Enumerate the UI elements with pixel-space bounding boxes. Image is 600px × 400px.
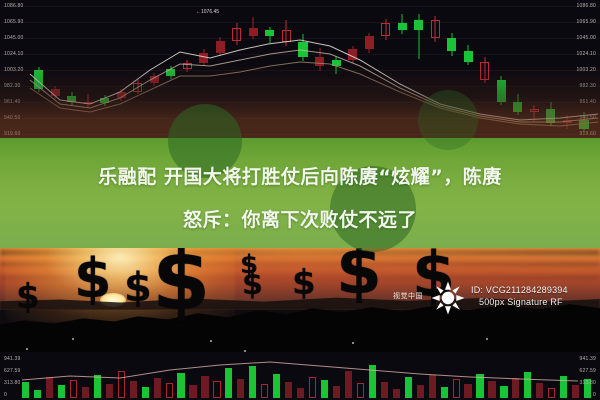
price-tick-right: 1045.00 <box>577 35 596 41</box>
candlestick-chart: 1086.801086.801065.901065.901045.001045.… <box>0 0 600 148</box>
price-tick-right: 961.40 <box>580 99 597 105</box>
speck <box>26 348 28 350</box>
price-tick-left: 1086.80 <box>4 3 23 9</box>
watermark-license: 500px Signature RF <box>479 297 563 307</box>
volume-tick-left: 0 <box>4 392 7 398</box>
price-tick-right: 919.60 <box>580 131 597 137</box>
headline-line-1: 乐融配 开国大将打胜仗后向陈赓“炫耀”，陈赓 <box>0 162 600 189</box>
volume-ma-line <box>0 352 600 400</box>
dollar-sign-icon: $ <box>240 252 258 278</box>
volume-tick-right: 0 <box>593 392 596 398</box>
dollar-sign-icon: $ <box>152 238 210 322</box>
price-tick-right: 1024.10 <box>577 51 596 57</box>
headline-line-2: 怒斥：你离下次败仗不远了 <box>0 205 600 232</box>
price-tick-right: 1086.80 <box>577 3 596 9</box>
price-tick-left: 1065.90 <box>4 19 23 25</box>
moving-average-lines <box>0 0 600 148</box>
price-tick-left: 1003.20 <box>4 67 23 73</box>
volume-tick-right: 313.80 <box>580 380 597 386</box>
watermark: 视觉中国 ID: VCG211284289394 500px Signature… <box>393 281 593 315</box>
dollar-sign-icon: $ <box>74 252 112 306</box>
volume-tick-left: 313.80 <box>4 380 21 386</box>
watermark-brand-cn: 视觉中国 <box>393 291 423 301</box>
speck <box>72 338 74 340</box>
price-tick-left: 982.30 <box>4 83 21 89</box>
volume-tick-left: 627.59 <box>4 368 21 374</box>
volume-tick-left: 941.39 <box>4 356 21 362</box>
speck <box>352 342 354 344</box>
screenshot-root: $$$$$$$$$ 1086.801086.801065.901065.9010… <box>0 0 600 400</box>
price-tick-right: 1065.90 <box>577 19 596 25</box>
price-tick-left: 961.40 <box>4 99 21 105</box>
price-tick-left: 940.50 <box>4 115 21 121</box>
price-tick-right: 1003.20 <box>577 67 596 73</box>
price-tick-left: 1024.10 <box>4 51 23 57</box>
dollar-sign-icon: $ <box>16 280 40 314</box>
volume-tick-right: 627.59 <box>580 368 597 374</box>
price-annotation: ←1076.45 <box>196 9 219 15</box>
star-burst-icon <box>431 281 465 315</box>
dollar-sign-icon: $ <box>124 268 152 308</box>
price-tick-right: 982.30 <box>580 83 597 89</box>
price-tick-right: 940.50 <box>580 115 597 121</box>
band-blob <box>418 90 478 150</box>
price-tick-left: 919.60 <box>4 131 21 137</box>
volume-tick-right: 941.39 <box>580 356 597 362</box>
dollar-sign-icon: $ <box>292 266 316 300</box>
price-tick-left: 1045.00 <box>4 35 23 41</box>
speck <box>486 338 488 340</box>
volume-chart: 941.39941.39627.59627.59313.80313.8000 <box>0 352 600 400</box>
speck <box>210 340 212 342</box>
watermark-id: ID: VCG211284289394 <box>471 285 568 295</box>
